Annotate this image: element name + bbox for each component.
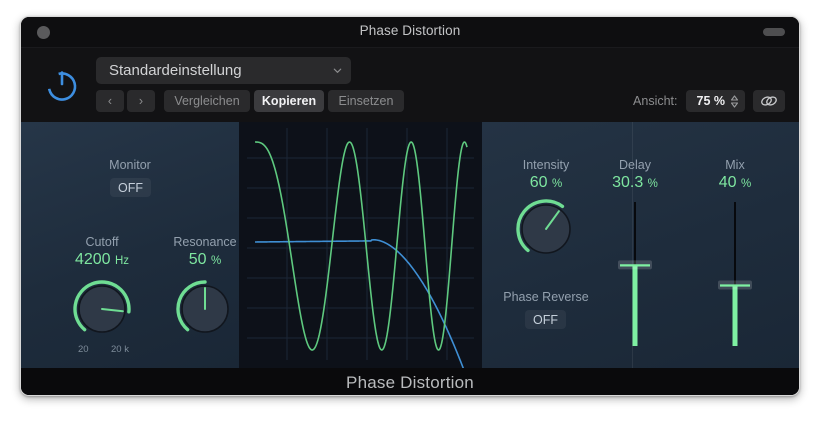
intensity-value: 60 %	[486, 174, 606, 192]
compare-button[interactable]: Vergleichen	[164, 90, 250, 112]
delay-number: 30.3	[612, 174, 643, 191]
delay-slider[interactable]	[610, 200, 660, 353]
paste-button[interactable]: Einsetzen	[328, 90, 404, 112]
filter-panel: Monitor OFF Cutoff 4200 Hz 20 20 k	[21, 122, 239, 368]
delay-label: Delay	[590, 158, 680, 172]
preset-name: Standardeinstellung	[109, 62, 332, 79]
phase-reverse-label: Phase Reverse	[486, 290, 606, 304]
plugin-body: Monitor OFF Cutoff 4200 Hz 20 20 k	[21, 122, 799, 368]
mix-number: 40	[719, 174, 737, 191]
resonance-unit: %	[211, 255, 221, 267]
footer-title: Phase Distortion	[346, 373, 474, 393]
cutoff-scale-min: 20	[78, 344, 89, 355]
waveform-display[interactable]	[239, 122, 482, 368]
footer-bar: Phase Distortion	[21, 368, 799, 396]
next-preset-button[interactable]: ›	[127, 90, 155, 112]
intensity-knob[interactable]	[515, 198, 577, 265]
intensity-number: 60	[530, 174, 548, 191]
title-bar: Phase Distortion	[21, 17, 799, 48]
display-grid	[247, 128, 474, 360]
zoom-value: 75 %	[697, 94, 726, 108]
stepper-updown-icon	[730, 94, 739, 109]
copy-button[interactable]: Kopieren	[254, 90, 324, 112]
chevron-down-icon	[332, 65, 343, 76]
mix-unit: %	[741, 178, 751, 190]
phase-reverse-toggle[interactable]: OFF	[525, 310, 566, 329]
view-label: Ansicht:	[633, 94, 677, 108]
intensity-unit: %	[552, 178, 562, 190]
zoom-stepper[interactable]: 75 %	[686, 90, 746, 112]
resonance-number: 50	[189, 251, 207, 268]
mix-slider[interactable]	[710, 200, 760, 353]
pill-handle-icon[interactable]	[763, 28, 785, 36]
prev-preset-button[interactable]: ‹	[96, 90, 124, 112]
resonance-knob[interactable]	[175, 279, 235, 344]
waveform-svg	[239, 122, 482, 368]
cutoff-value: 4200 Hz	[43, 251, 161, 269]
cutoff-scale-max: 20 k	[111, 344, 129, 355]
screenshot-root: Phase Distortion Standardeinstellung ‹ ›…	[0, 0, 820, 426]
delay-unit: %	[648, 178, 658, 190]
cutoff-knob[interactable]	[72, 279, 132, 344]
monitor-label: Monitor	[21, 158, 239, 172]
toolbar: Standardeinstellung ‹ › Vergleichen Kopi…	[21, 48, 799, 122]
cutoff-unit: Hz	[115, 255, 129, 267]
mix-value: 40 %	[690, 174, 780, 192]
mix-label: Mix	[690, 158, 780, 172]
view-controls: Ansicht: 75 %	[633, 90, 785, 112]
plugin-window: Phase Distortion Standardeinstellung ‹ ›…	[20, 16, 800, 396]
link-chain-icon[interactable]	[753, 90, 785, 112]
power-icon[interactable]	[43, 66, 81, 104]
window-title: Phase Distortion	[21, 23, 799, 38]
delay-value: 30.3 %	[590, 174, 680, 192]
distortion-panel: Intensity 60 % Phase Reverse OFF Delay	[482, 122, 799, 368]
monitor-toggle[interactable]: OFF	[110, 178, 151, 197]
preset-dropdown[interactable]: Standardeinstellung	[96, 57, 351, 84]
cutoff-number: 4200	[75, 251, 111, 268]
intensity-label: Intensity	[486, 158, 606, 172]
cutoff-label: Cutoff	[43, 235, 161, 249]
